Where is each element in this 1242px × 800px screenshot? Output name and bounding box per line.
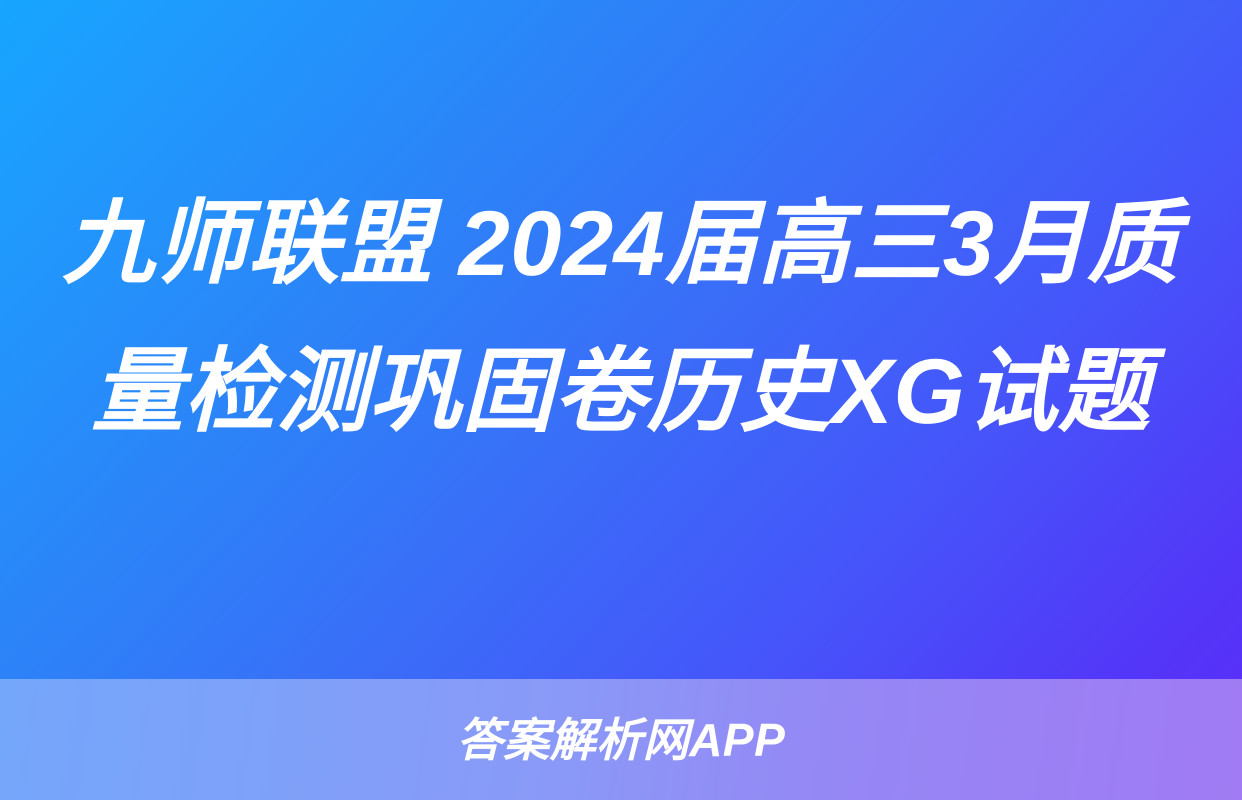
headline-area: 九师联盟 2024届高三3月质量检测巩固卷历史XG试题 [0, 0, 1242, 679]
footer-watermark-banner: 答案解析网APP [0, 679, 1242, 800]
page-title: 九师联盟 2024届高三3月质量检测巩固卷历史XG试题 [52, 170, 1190, 466]
poster-canvas: 九师联盟 2024届高三3月质量检测巩固卷历史XG试题 答案解析网APP [0, 0, 1242, 800]
watermark-text: 答案解析网APP [457, 717, 786, 763]
